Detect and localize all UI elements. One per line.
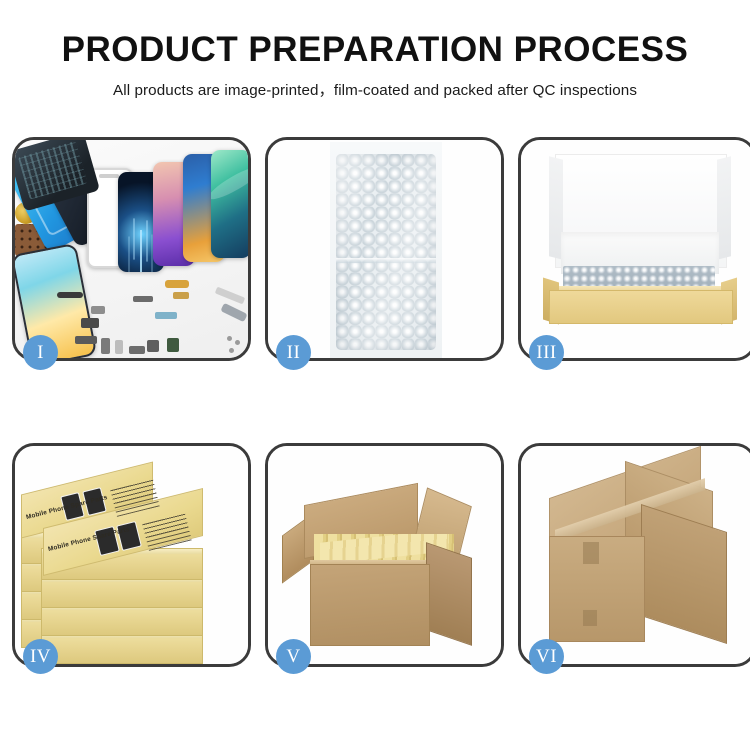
step-panel-5: V	[265, 443, 504, 667]
inner-box-front	[549, 290, 733, 324]
screw-part	[229, 348, 234, 353]
step-6-image	[521, 446, 750, 664]
carton-hand-hole	[583, 542, 599, 564]
page-title: PRODUCT PREPARATION PROCESS	[0, 32, 750, 69]
box-stack: Mobile Phone Spare Parts Mobile Phone Sp…	[15, 446, 248, 664]
spare-part	[215, 287, 245, 305]
step-2-image	[268, 140, 501, 358]
teal-gradient-phone	[211, 150, 248, 258]
spare-part	[165, 280, 189, 288]
spare-part	[101, 338, 110, 354]
step-badge-1: I	[23, 335, 58, 370]
spare-part	[57, 292, 83, 298]
sealed-carton-right-side	[641, 504, 727, 644]
step-panel-4: Mobile Phone Spare Parts Mobile Phone Sp…	[12, 443, 251, 667]
spare-part	[75, 336, 97, 344]
spare-part	[220, 303, 247, 322]
spare-part	[173, 292, 189, 299]
screw-part	[235, 340, 240, 345]
spare-part	[147, 340, 159, 352]
step-1-image	[15, 140, 248, 358]
step-panel-6: VI	[518, 443, 750, 667]
step-panel-1: I	[12, 137, 251, 361]
bubble-wrap-sheen	[336, 154, 436, 350]
steps-grid: I II III	[12, 137, 738, 685]
step-3-image	[521, 140, 750, 358]
spare-part	[167, 338, 179, 352]
step-badge-2: II	[276, 335, 311, 370]
spare-part	[115, 340, 123, 354]
product-preparation-infographic: PRODUCT PREPARATION PROCESS All products…	[0, 0, 750, 750]
step-badge-5: V	[276, 639, 311, 674]
step-badge-6: VI	[529, 639, 564, 674]
spare-part	[81, 318, 99, 328]
carton-hand-hole	[583, 610, 597, 626]
page-subtitle: All products are image-printed，film-coat…	[0, 78, 750, 100]
spare-part	[129, 346, 145, 354]
step-5-image	[268, 446, 501, 664]
screw-part	[227, 336, 232, 341]
spare-part	[133, 296, 153, 302]
inner-box-lid-right-flap	[717, 156, 731, 259]
step-panel-3: III	[518, 137, 750, 361]
header: PRODUCT PREPARATION PROCESS All products…	[0, 0, 750, 100]
carton-front-face	[310, 564, 430, 646]
step-badge-4: IV	[23, 639, 58, 674]
stacked-box	[41, 576, 203, 608]
carton-right-side	[426, 542, 472, 646]
spare-part	[155, 312, 177, 319]
step-panel-2: II	[265, 137, 504, 361]
stacked-box	[41, 604, 203, 636]
spare-part	[91, 306, 105, 314]
step-4-image: Mobile Phone Spare Parts Mobile Phone Sp…	[15, 446, 248, 664]
stacked-box	[41, 632, 203, 664]
step-badge-3: III	[529, 335, 564, 370]
